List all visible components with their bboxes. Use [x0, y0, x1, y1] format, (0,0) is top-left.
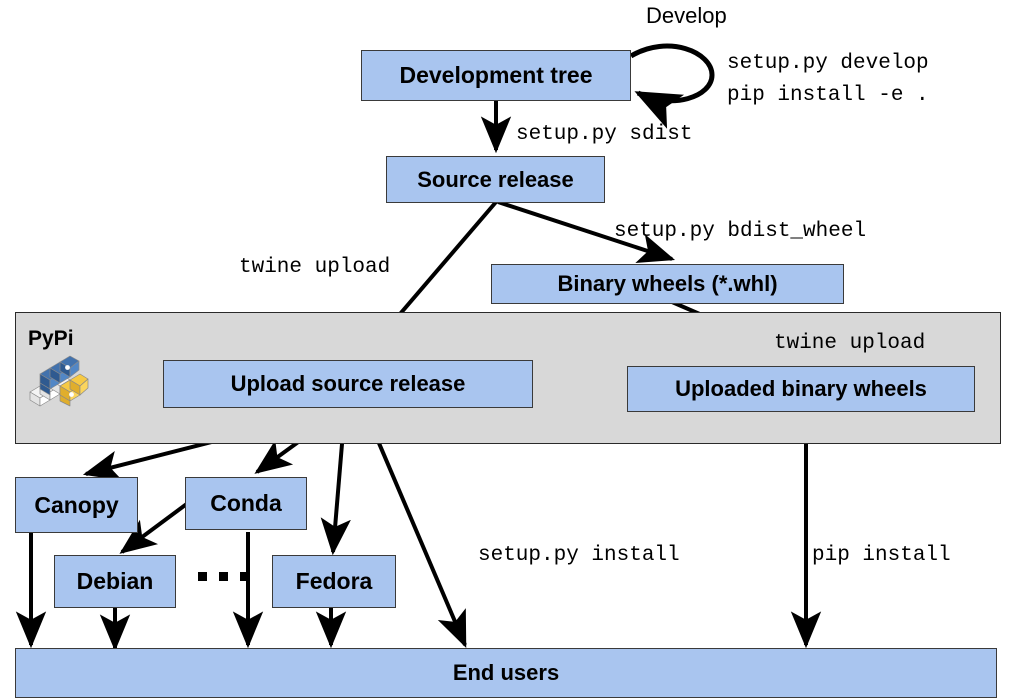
node-canopy[interactable]: Canopy: [15, 477, 138, 533]
label-develop: Develop: [646, 3, 727, 29]
ellipsis-dot: [219, 572, 228, 581]
label-twine-upload-wheels: twine upload: [774, 332, 925, 355]
label-pip-install-editable: pip install -e .: [727, 84, 929, 107]
node-fedora[interactable]: Fedora: [272, 555, 396, 608]
label-twine-upload-source: twine upload: [239, 256, 390, 279]
label-setup-py-sdist: setup.py sdist: [516, 123, 692, 146]
ellipsis-dots: [198, 572, 249, 581]
node-development-tree[interactable]: Development tree: [361, 50, 631, 101]
node-conda[interactable]: Conda: [185, 477, 307, 530]
label-setup-py-install: setup.py install: [478, 544, 680, 567]
label-setup-py-develop: setup.py develop: [727, 52, 929, 75]
python-cubes-logo: [26, 354, 90, 410]
pypi-region-label: PyPi: [28, 327, 74, 351]
ellipsis-dot: [240, 572, 249, 581]
node-debian[interactable]: Debian: [54, 555, 176, 608]
label-pip-install: pip install: [812, 544, 951, 567]
label-setup-py-bdist-wheel: setup.py bdist_wheel: [614, 220, 866, 243]
ellipsis-dot: [198, 572, 207, 581]
node-uploaded-binary-wheels[interactable]: Uploaded binary wheels: [627, 366, 975, 412]
edge-develop-selfloop: [631, 46, 712, 101]
node-binary-wheels[interactable]: Binary wheels (*.whl): [491, 264, 844, 304]
node-source-release[interactable]: Source release: [386, 156, 605, 203]
packaging-flow-diagram: PyPi: [0, 0, 1009, 698]
node-upload-source-release[interactable]: Upload source release: [163, 360, 533, 408]
node-end-users[interactable]: End users: [15, 648, 997, 698]
